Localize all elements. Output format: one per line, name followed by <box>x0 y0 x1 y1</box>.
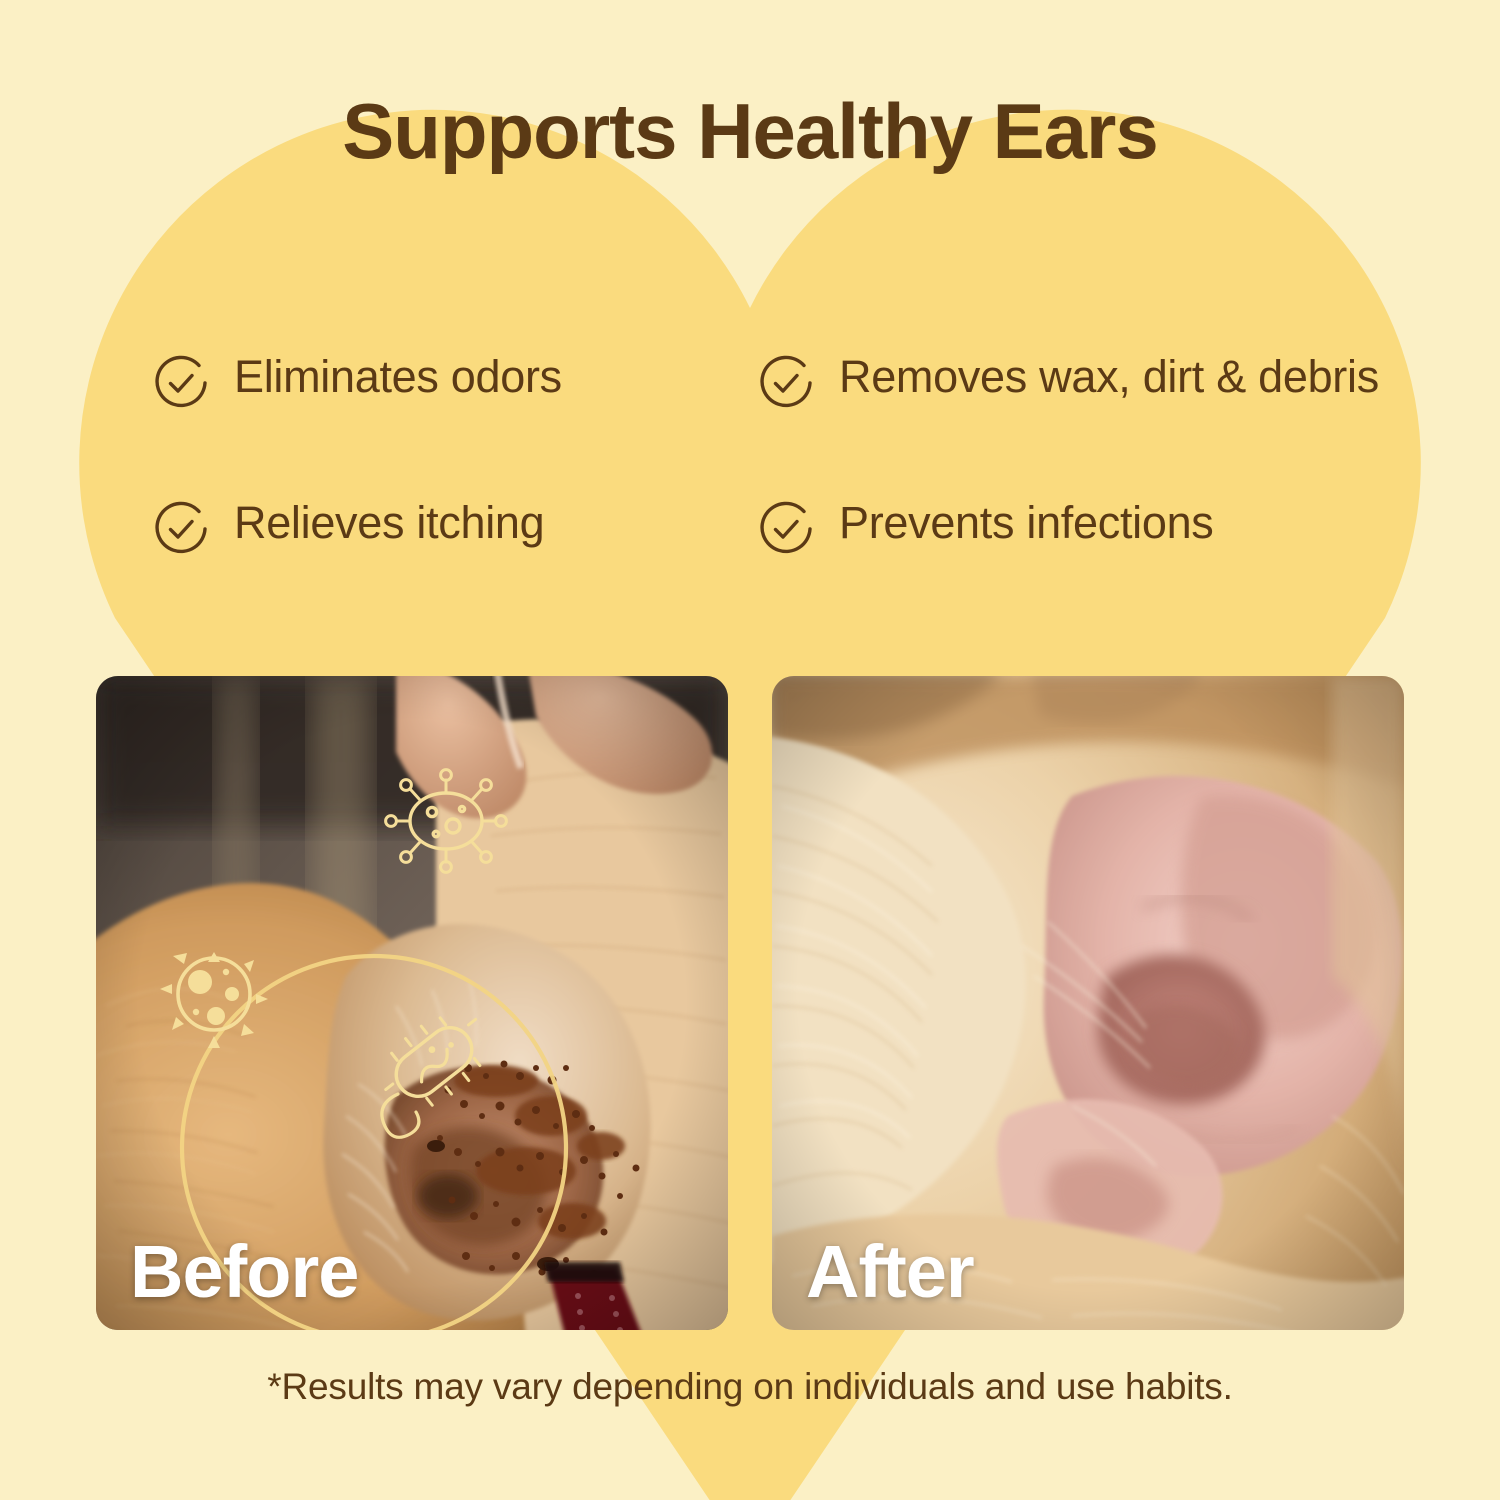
check-circle-icon <box>150 352 212 414</box>
check-circle-icon <box>755 352 817 414</box>
benefit-item-removes-wax-dirt-debris: Removes wax, dirt & debris <box>755 348 1380 414</box>
benefit-item-eliminates-odors: Eliminates odors <box>150 348 755 414</box>
benefit-item-prevents-infections: Prevents infections <box>755 494 1380 560</box>
before-caption: Before <box>130 1229 358 1314</box>
benefit-label: Prevents infections <box>839 494 1214 552</box>
benefit-label: Relieves itching <box>234 494 544 552</box>
before-after-comparison: Before <box>96 676 1404 1330</box>
benefit-label: Eliminates odors <box>234 348 562 406</box>
benefit-label: Removes wax, dirt & debris <box>839 348 1379 406</box>
benefits-list: Eliminates odors Removes wax, dirt & deb… <box>150 348 1380 560</box>
check-circle-icon <box>755 498 817 560</box>
page-title: Supports Healthy Ears <box>0 86 1500 177</box>
benefit-item-relieves-itching: Relieves itching <box>150 494 755 560</box>
check-circle-icon <box>150 498 212 560</box>
after-caption: After <box>806 1229 974 1314</box>
before-photo-panel: Before <box>96 676 728 1330</box>
results-disclaimer: *Results may vary depending on individua… <box>0 1366 1500 1408</box>
after-photo-panel: After <box>772 676 1404 1330</box>
